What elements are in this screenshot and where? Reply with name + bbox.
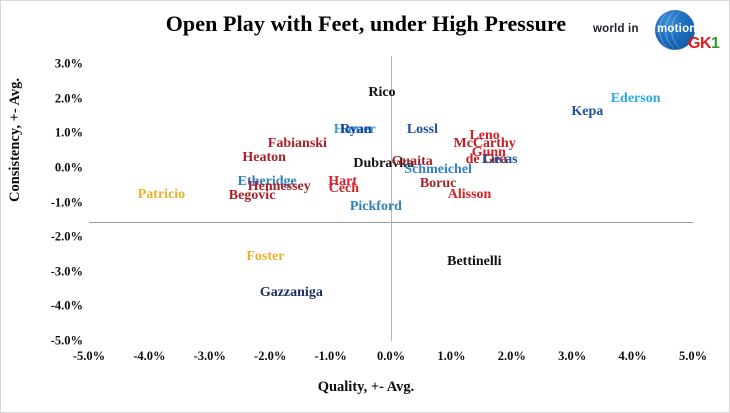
- x-tick-label: 4.0%: [619, 349, 647, 364]
- x-tick-label: -1.0%: [314, 349, 346, 364]
- y-tick-label: -4.0%: [51, 299, 83, 314]
- x-tick-label: 1.0%: [437, 349, 465, 364]
- x-tick-label: -5.0%: [73, 349, 105, 364]
- data-point-label: Bettinelli: [447, 255, 501, 269]
- chart-screenshot: Open Play with Feet, under High Pressure…: [0, 0, 730, 413]
- y-tick-label: -2.0%: [51, 230, 83, 245]
- x-tick-label: 2.0%: [498, 349, 526, 364]
- data-point-label: Kepa: [571, 105, 603, 119]
- data-point-label: Ederson: [611, 92, 661, 106]
- x-tick-label: -3.0%: [194, 349, 226, 364]
- y-tick-label: -3.0%: [51, 264, 83, 279]
- logo-one-digit: 1: [711, 35, 719, 52]
- data-point-label: Foster: [246, 250, 284, 264]
- data-point-label: Lossl: [407, 123, 438, 137]
- x-tick-label: 3.0%: [558, 349, 586, 364]
- data-point-label: Fabianski: [268, 137, 327, 151]
- x-axis-title: Quality, +- Avg.: [1, 379, 730, 396]
- y-tick-label: 1.0%: [55, 126, 83, 141]
- logo-world-in-text: world in: [593, 23, 639, 35]
- logo-motion-text: motion: [657, 23, 697, 35]
- data-point-label: Begovic: [229, 189, 276, 203]
- data-point-label: Cech: [329, 182, 359, 196]
- data-point-label: Patricio: [138, 188, 185, 202]
- y-tick-label: 0.0%: [55, 160, 83, 175]
- data-point-label: Gazzaniga: [260, 286, 323, 300]
- data-point-label: Pickford: [350, 200, 402, 214]
- y-tick-label: 3.0%: [55, 57, 83, 72]
- data-point-label: Schmeichel: [404, 163, 472, 177]
- logo-gk-letters: GK: [688, 35, 711, 52]
- world-in-motion-gk1-logo: world in motion GK1: [593, 9, 725, 55]
- x-tick-label: -4.0%: [133, 349, 165, 364]
- y-tick-label: 2.0%: [55, 91, 83, 106]
- x-tick-label: 0.0%: [377, 349, 405, 364]
- data-point-label: Ryan: [340, 123, 371, 137]
- x-tick-label: -2.0%: [254, 349, 286, 364]
- y-axis-title: Consistency, +- Avg.: [7, 78, 24, 202]
- logo-gk1-text: GK1: [688, 35, 719, 53]
- x-tick-label: 5.0%: [679, 349, 707, 364]
- data-point-label: Lucas: [482, 153, 518, 167]
- data-point-label: Heaton: [242, 151, 286, 165]
- data-point-label: Alisson: [448, 188, 492, 202]
- plot-area: 3.0%2.0%1.0%0.0%-1.0%-2.0%-3.0%-4.0%-5.0…: [89, 64, 693, 341]
- y-tick-label: -1.0%: [51, 195, 83, 210]
- data-point-label: Rico: [368, 86, 395, 100]
- y-tick-label: -5.0%: [51, 334, 83, 349]
